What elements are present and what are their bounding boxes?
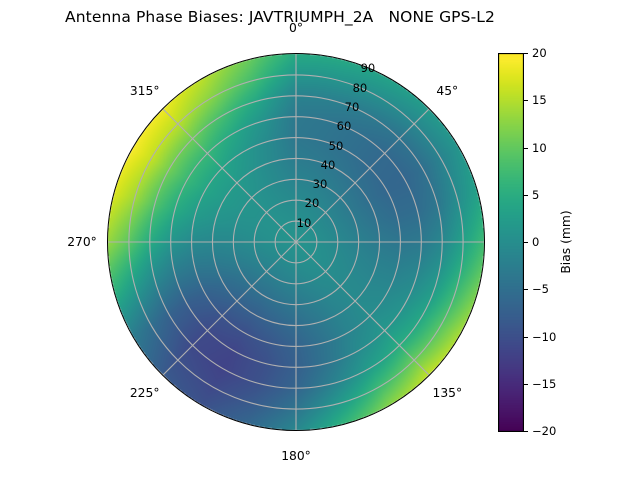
colorbar-tick-label: 20 [532,46,547,60]
colorbar-tick-mark [524,431,528,432]
radial-tick-label: 10 [297,216,312,230]
figure-canvas: Antenna Phase Biases: JAVTRIUMPH_2A NONE… [0,0,640,480]
colorbar-tick-label: 0 [532,235,539,249]
radial-tick-label: 60 [337,119,352,133]
colorbar-tick-mark [524,100,528,101]
radial-tick-label: 50 [329,139,344,153]
colorbar-tick-label: −5 [532,282,549,296]
radial-tick-label: 30 [313,177,328,191]
page-title: Antenna Phase Biases: JAVTRIUMPH_2A NONE… [0,8,560,26]
colorbar-tick-mark [524,242,528,243]
colorbar-tick-label: 10 [532,141,547,155]
colorbar-tick-mark [524,53,528,54]
colorbar[interactable]: −20−15−10−505101520 [498,53,524,432]
azimuth-tick-label: 45° [436,84,458,98]
colorbar-tick-label: 15 [532,93,547,107]
colorbar-frame [498,53,524,432]
azimuth-tick-label: 135° [433,386,463,400]
colorbar-tick-label: −20 [532,424,556,438]
radial-tick-label: 20 [305,196,320,210]
colorbar-tick-label: −10 [532,330,556,344]
azimuth-tick-label: 225° [130,386,160,400]
colorbar-tick-mark [524,384,528,385]
azimuth-tick-label: 315° [130,84,160,98]
polar-axes[interactable] [107,53,485,431]
azimuth-tick-label: 180° [281,449,311,463]
polar-data-canvas [107,53,485,431]
colorbar-tick-label: 5 [532,188,539,202]
radial-tick-label: 70 [345,100,360,114]
azimuth-tick-label: 0° [289,21,303,35]
colorbar-tick-mark [524,148,528,149]
colorbar-tick-mark [524,195,528,196]
colorbar-tick-mark [524,337,528,338]
radial-tick-label: 80 [353,81,368,95]
colorbar-axis-label: Bias (mm) [559,210,573,273]
radial-tick-label: 40 [321,158,336,172]
radial-tick-label: 90 [361,61,376,75]
azimuth-tick-label: 270° [67,235,97,249]
colorbar-tick-label: −15 [532,377,556,391]
polar-heatmap-surface [107,53,485,431]
colorbar-tick-mark [524,289,528,290]
